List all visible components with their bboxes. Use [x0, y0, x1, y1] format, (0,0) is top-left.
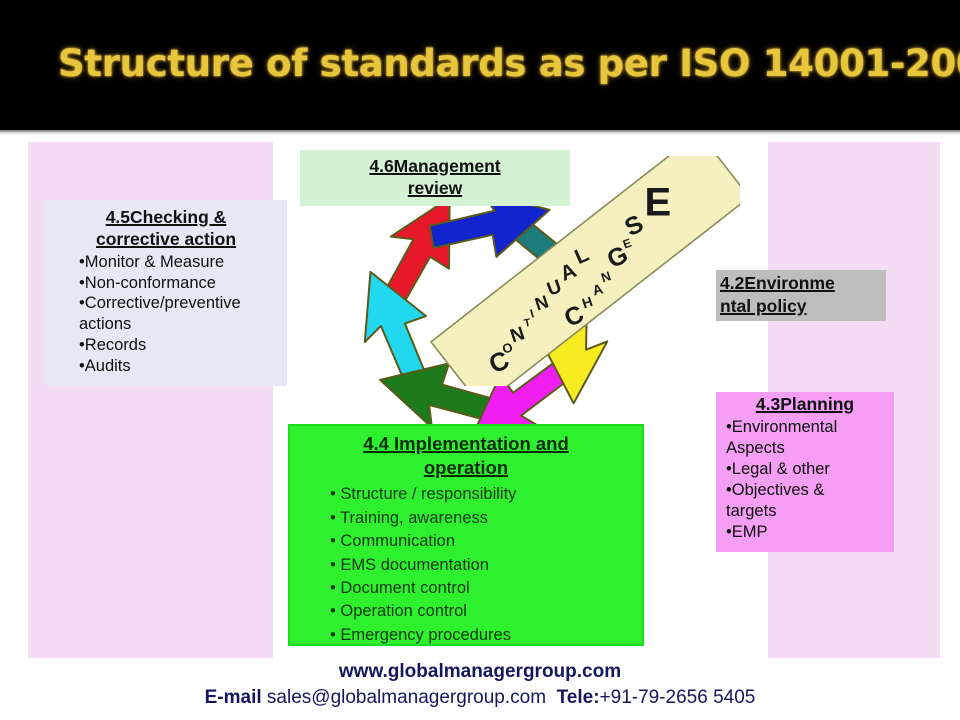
box-planning-title: 4.3Planning [720, 394, 890, 416]
box-checking-items: •Monitor & Measure •Non-conformance •Cor… [49, 252, 283, 377]
footer: www.globalmanagergroup.com E-mail sales@… [0, 660, 960, 710]
header-bar: Structure of standards as per ISO 14001-… [0, 0, 960, 130]
mr-title-line1: 4.6Management [369, 156, 500, 176]
list-item: Aspects [726, 438, 890, 459]
pl-title: 4.3Planning [756, 394, 854, 414]
box-implementation-items: • Structure / responsibility • Training,… [296, 483, 636, 647]
io-title-line2: operation [424, 457, 508, 478]
footer-tele: +91-79-2656 5405 [600, 687, 756, 708]
list-item: •Records [79, 335, 283, 356]
list-item: •Corrective/preventive actions [79, 293, 283, 335]
list-item: • Training, awareness [330, 507, 636, 530]
box-management-review[interactable]: 4.6Management review [300, 150, 570, 206]
list-item: • Communication [330, 530, 636, 553]
list-item: •Objectives & [726, 480, 890, 501]
slide-body: C O N T I N U A L C H A N G E S E [0, 136, 960, 720]
cc-title-line2: corrective action [96, 229, 236, 249]
footer-website[interactable]: www.globalmanagergroup.com [0, 660, 960, 684]
list-item: •EMP [726, 522, 890, 543]
list-item: •Environmental [726, 417, 890, 438]
box-implementation-title: 4.4 Implementation and operation [296, 432, 636, 479]
box-planning-items: •Environmental Aspects •Legal & other •O… [720, 417, 890, 544]
cc-title-line1: 4.5Checking & [106, 207, 227, 227]
footer-contact: E-mail sales@globalmanagergroup.com Tele… [0, 686, 960, 711]
list-item: • EMS documentation [330, 554, 636, 577]
box-environmental-policy-title: 4.2Environme ntal policy [720, 272, 882, 318]
list-item: • Operation control [330, 600, 636, 623]
list-item: •Audits [79, 356, 283, 377]
list-item: •Legal & other [726, 459, 890, 480]
box-management-review-title: 4.6Management review [369, 156, 500, 200]
list-item: • Structure / responsibility [330, 483, 636, 506]
box-planning[interactable]: 4.3Planning •Environmental Aspects •Lega… [716, 392, 894, 552]
list-item: • Document control [330, 577, 636, 600]
ep-title-line1: 4.2Environme [720, 273, 835, 293]
box-checking-corrective-action[interactable]: 4.5Checking & corrective action •Monitor… [45, 200, 287, 386]
box-implementation-operation[interactable]: 4.4 Implementation and operation • Struc… [288, 424, 644, 646]
ep-title-line2: ntal policy [720, 296, 807, 316]
list-item: • Emergency procedures [330, 624, 636, 647]
page-title: Structure of standards as per ISO 14001-… [58, 42, 960, 85]
list-item: •Non-conformance [79, 273, 283, 294]
slide-root: Structure of standards as per ISO 14001-… [0, 0, 960, 720]
footer-email-label: E-mail [205, 687, 262, 708]
io-title-line1: 4.4 Implementation and [363, 433, 569, 454]
box-checking-title: 4.5Checking & corrective action [49, 206, 283, 251]
footer-email[interactable]: sales@globalmanagergroup.com [267, 687, 546, 708]
footer-tele-label: Tele: [557, 687, 600, 708]
mr-title-line2: review [408, 178, 462, 198]
list-item: targets [726, 501, 890, 522]
list-item: •Monitor & Measure [79, 252, 283, 273]
box-environmental-policy[interactable]: 4.2Environme ntal policy [716, 270, 886, 321]
arrow-wheel-svg [306, 198, 666, 428]
continual-improvement-arrow-wheel [306, 198, 666, 428]
